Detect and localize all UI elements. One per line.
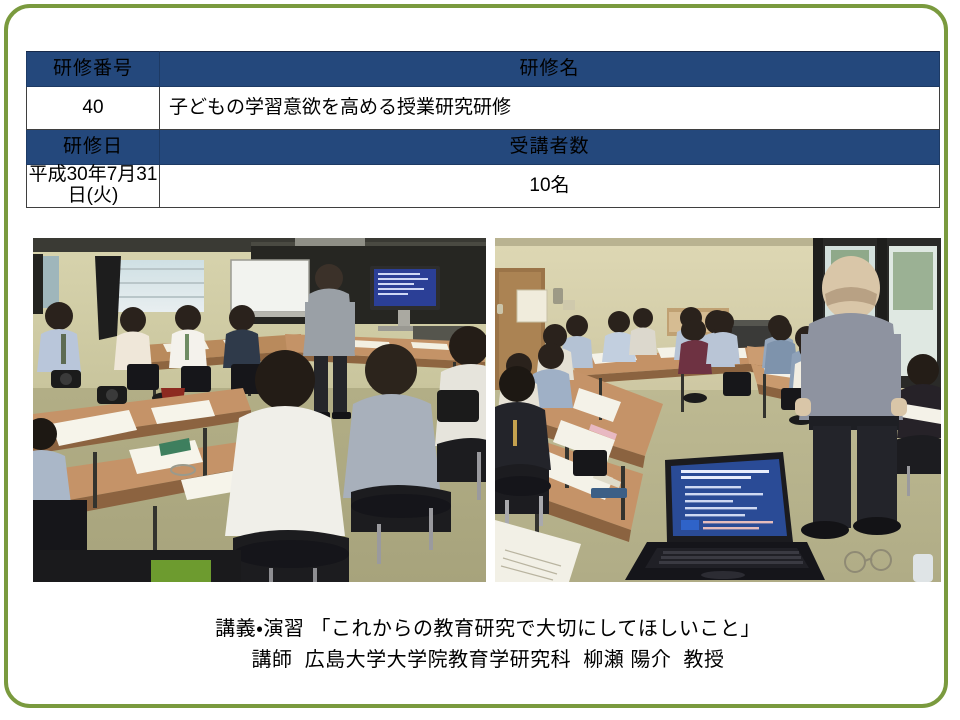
header-cell-training-number: 研修番号 — [27, 52, 160, 87]
slide-frame: 研修番号 研修名 40 子どもの学習意欲を高める授業研究研修 研修日 受講者数 … — [4, 4, 948, 708]
table-row-header-2: 研修日 受講者数 — [27, 130, 940, 165]
header-cell-participant-count: 受講者数 — [160, 130, 940, 165]
caption-line-2: 講師 広島大学大学院教育学研究科 柳瀬 陽介 教授 — [8, 645, 960, 676]
value-cell-training-date: 平成30年7月31日(火) — [27, 165, 160, 208]
table-row-header-1: 研修番号 研修名 — [27, 52, 940, 87]
photo-seminar-room-right — [495, 238, 941, 582]
header-cell-training-name: 研修名 — [160, 52, 940, 87]
photo-left-illustration — [33, 238, 486, 582]
value-cell-training-name: 子どもの学習意欲を高める授業研究研修 — [160, 87, 940, 130]
value-cell-participant-count: 10名 — [160, 165, 940, 208]
photo-row — [33, 238, 941, 582]
photo-seminar-room-left — [33, 238, 486, 582]
training-info-table: 研修番号 研修名 40 子どもの学習意欲を高める授業研究研修 研修日 受講者数 … — [26, 51, 940, 208]
header-cell-training-date: 研修日 — [27, 130, 160, 165]
caption-block: 講義・演習 「これからの教育研究で大切にしてほしいこと」 講師 広島大学大学院教… — [8, 614, 960, 676]
table-row-values-2: 平成30年7月31日(火) 10名 — [27, 165, 940, 208]
table-row-values-1: 40 子どもの学習意欲を高める授業研究研修 — [27, 87, 940, 130]
caption-line-1: 講義・演習 「これからの教育研究で大切にしてほしいこと」 — [8, 614, 960, 645]
photo-right-illustration — [495, 238, 941, 582]
value-cell-training-number: 40 — [27, 87, 160, 130]
